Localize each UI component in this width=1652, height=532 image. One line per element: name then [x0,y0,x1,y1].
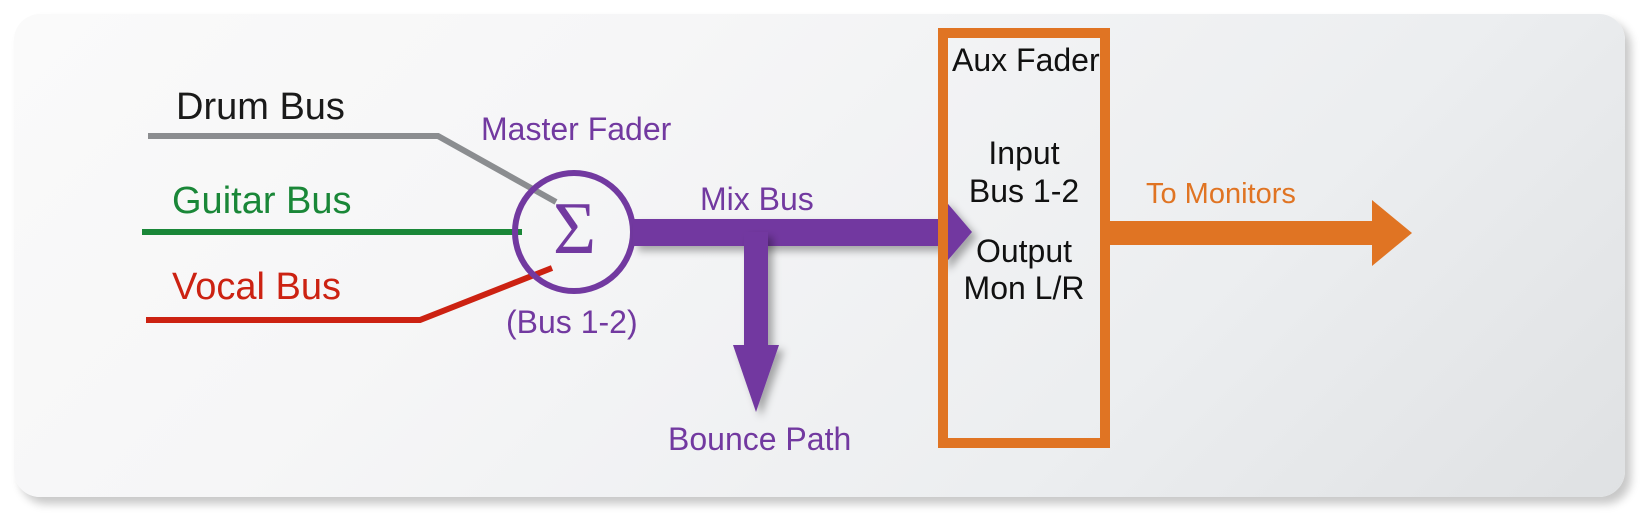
aux-fader-title: Aux Fader [952,44,1100,76]
master-fader-label: Master Fader [481,113,671,145]
sigma-icon: Σ [553,192,596,266]
bounce-path-label: Bounce Path [668,423,851,455]
bus-label-vocal: Vocal Bus [172,268,341,306]
bus-label-guitar: Guitar Bus [172,182,352,220]
mix-bus-label: Mix Bus [700,183,814,215]
to-monitors-label: To Monitors [1146,180,1296,209]
aux-input-value: Bus 1-2 [969,173,1079,209]
master-fader-bus-range: (Bus 1-2) [506,306,638,338]
aux-input-label: Input [988,135,1059,171]
diagram-canvas: Drum Bus Guitar Bus Vocal Bus Master Fad… [0,0,1652,532]
io-spacer [960,211,1088,233]
aux-fader-io: Input Bus 1-2 Output Mon L/R [960,135,1088,308]
aux-output-value: Mon L/R [964,270,1085,306]
bounce-path-arrow [733,232,779,412]
bus-label-drum: Drum Bus [176,88,345,126]
aux-output-label: Output [976,233,1072,269]
